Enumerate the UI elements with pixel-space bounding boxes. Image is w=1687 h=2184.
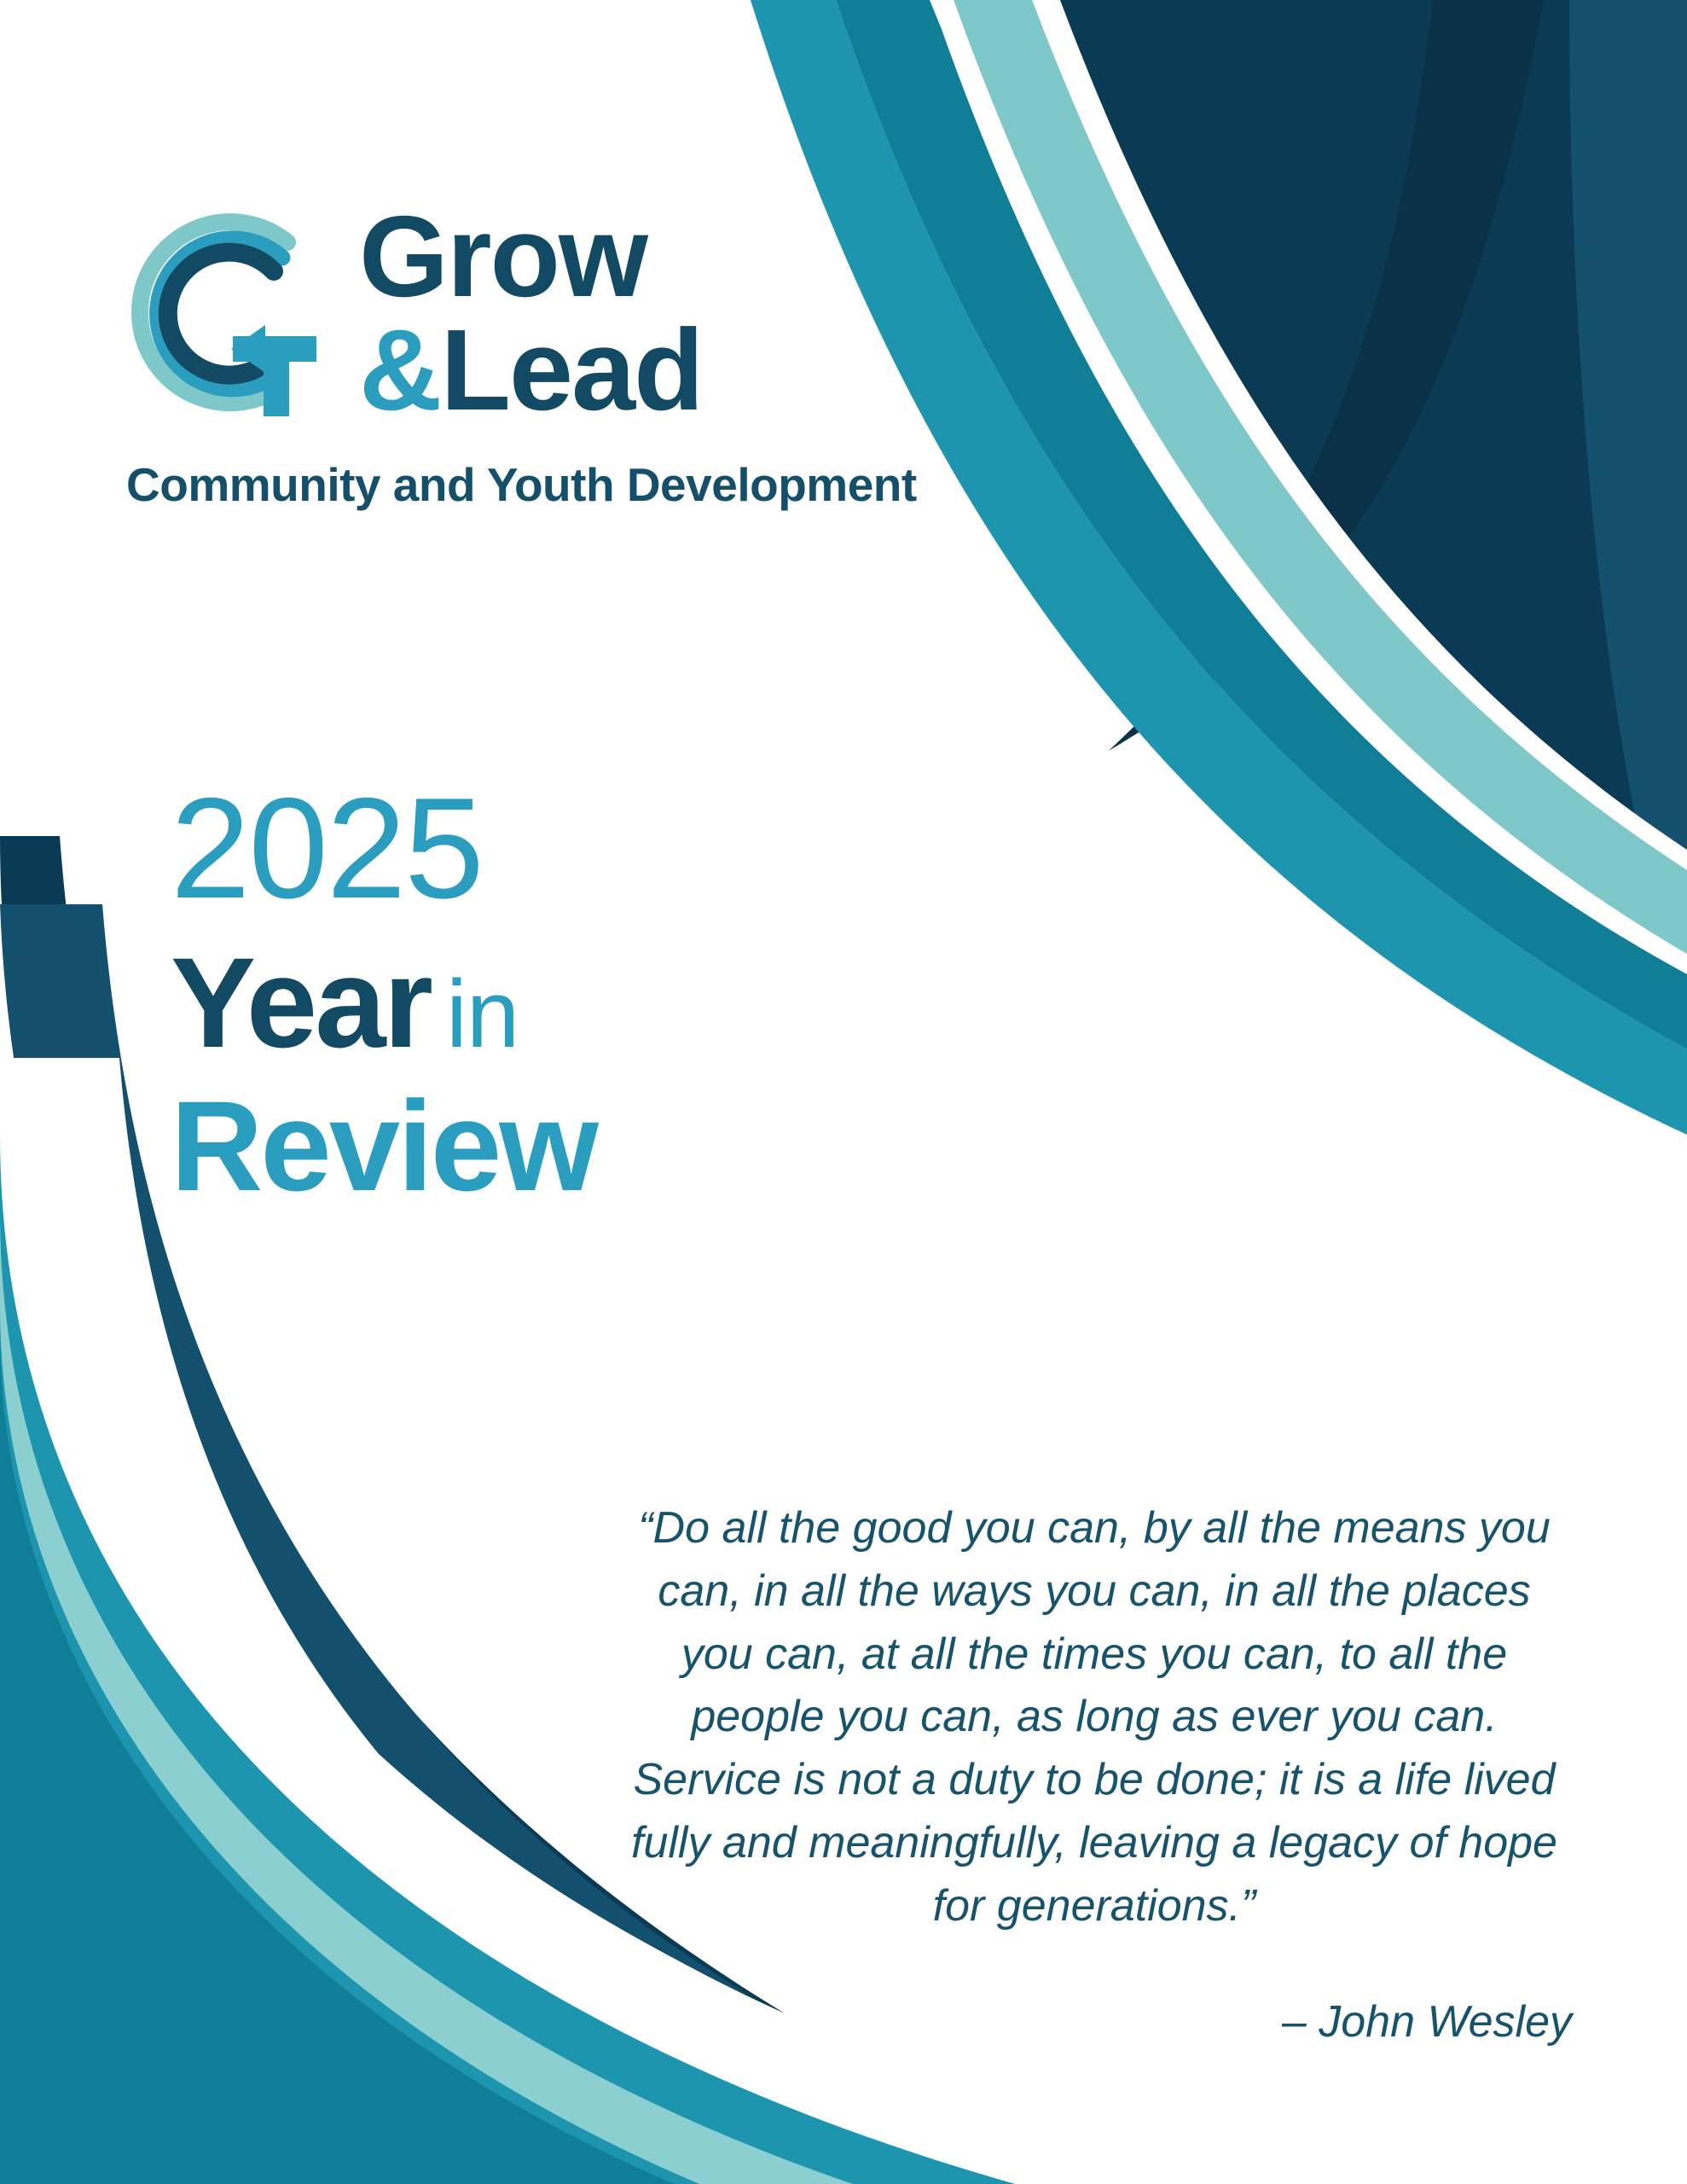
brand-logo-block: Grow &Lead Community and Youth Developme… bbox=[119, 196, 1126, 512]
wordmark-lead-text: Lead bbox=[441, 305, 703, 434]
title-year: 2025 bbox=[171, 776, 1109, 920]
title-word-review: Review bbox=[171, 1082, 1109, 1210]
title-word-year: Year bbox=[171, 931, 431, 1074]
brand-wordmark: Grow &Lead bbox=[359, 201, 703, 427]
title-word-in: in bbox=[446, 961, 519, 1067]
wordmark-line-grow: Grow bbox=[359, 201, 703, 312]
top-right-white-separator-inner bbox=[1032, 0, 1687, 870]
wordmark-ampersand: & bbox=[359, 305, 441, 434]
top-right-navy-column bbox=[1569, 0, 1687, 1007]
grow-and-lead-g-arrow-mark bbox=[107, 201, 337, 432]
cover-quote-block: “Do all the good you can, by all the mea… bbox=[617, 1497, 1572, 2047]
title-line-year-in: Yearin bbox=[171, 938, 1109, 1066]
brand-tagline: Community and Youth Development bbox=[126, 457, 1126, 512]
wordmark-line-lead: &Lead bbox=[359, 312, 703, 427]
quote-attribution: – John Wesley bbox=[617, 1996, 1572, 2047]
quote-text: “Do all the good you can, by all the mea… bbox=[617, 1497, 1572, 1938]
bottom-left-deep-teal-fill bbox=[0, 1331, 674, 2184]
cover-title-block: 2025 Yearin Review bbox=[171, 776, 1109, 1210]
top-right-deep-band bbox=[1109, 0, 1544, 751]
